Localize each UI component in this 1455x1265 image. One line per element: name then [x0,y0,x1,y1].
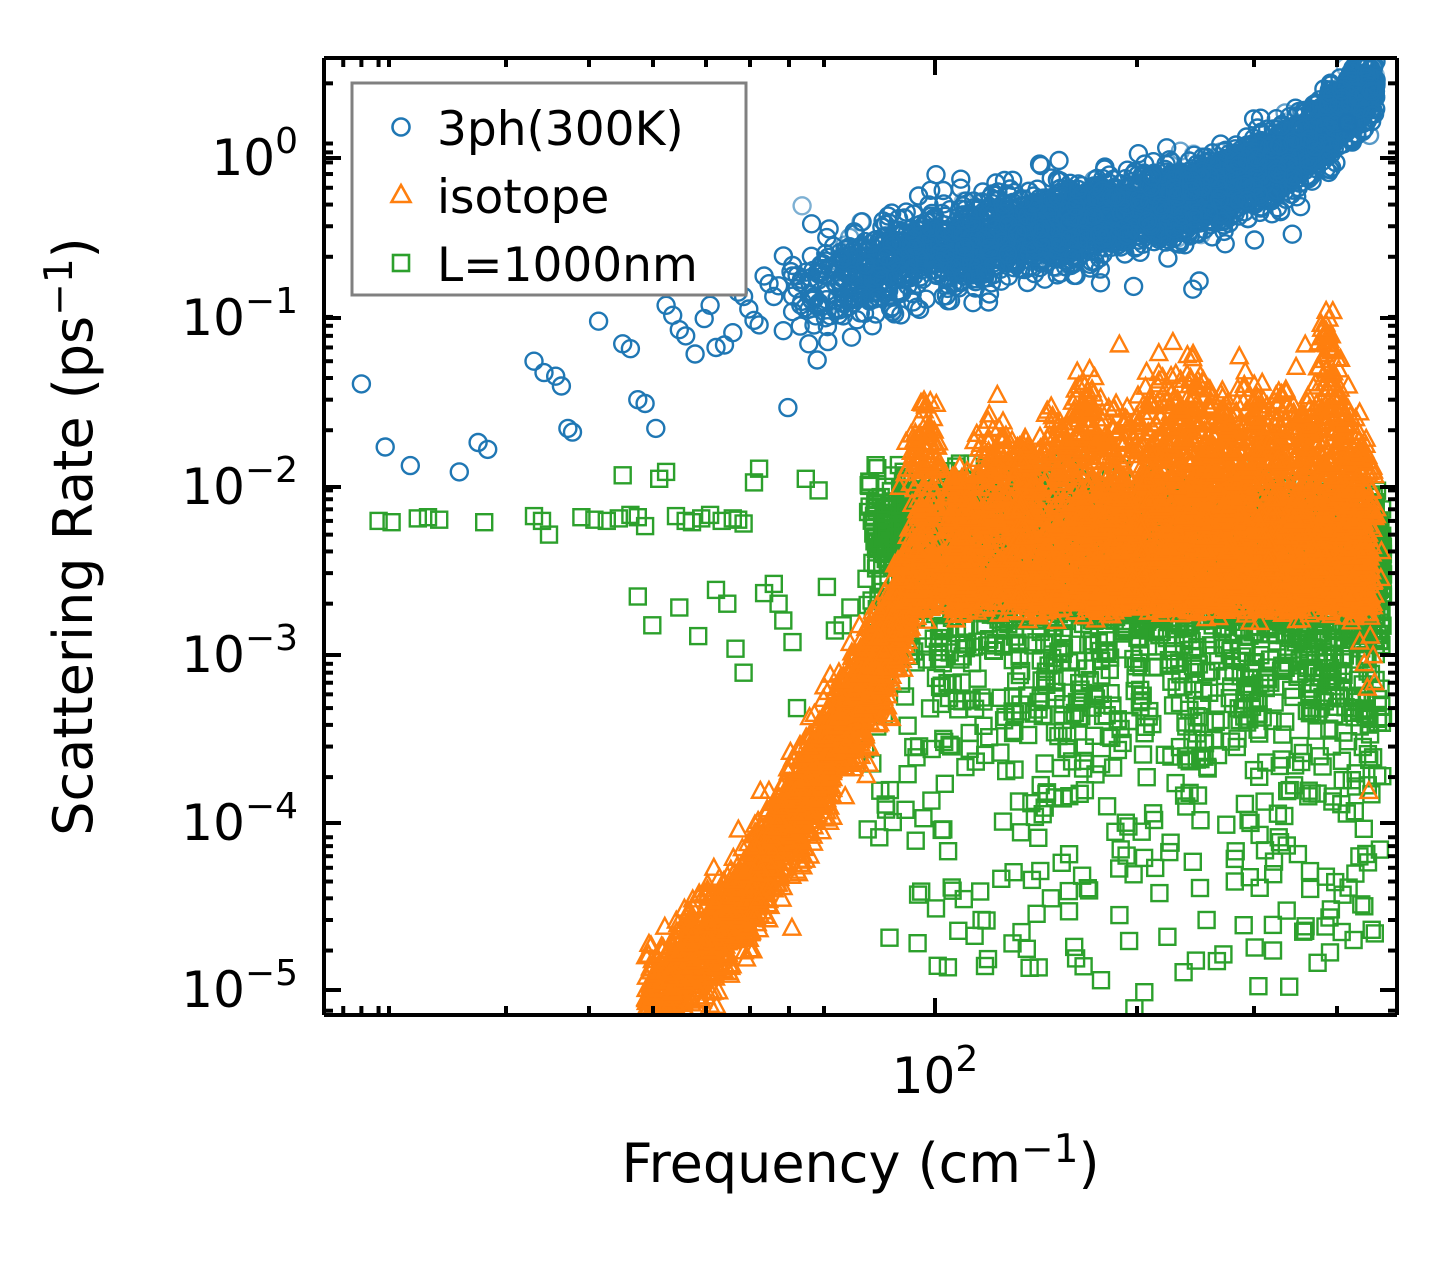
data-point-circle [526,353,543,370]
data-point-square [882,930,898,946]
data-point-circle [779,399,796,416]
data-point-square [970,671,986,687]
data-point-circle [794,197,811,214]
data-point-circle [553,378,570,395]
data-point-square [979,913,995,929]
data-point-square [972,884,988,900]
data-point-circle [1246,232,1263,249]
data-point-square [1302,863,1318,879]
data-point-circle [377,439,394,456]
data-point-circle [564,424,581,441]
data-point-square [736,516,752,532]
data-point-circle [559,420,576,437]
data-point-square [993,871,1009,887]
data-point-square [842,600,858,616]
data-point-circle [547,368,564,385]
data-point-square [644,617,660,633]
data-point-square [910,935,926,951]
data-point-square [671,600,687,616]
data-point-circle [751,316,768,333]
data-point-square [1237,796,1253,812]
data-point-circle [1159,250,1176,267]
data-point-circle [809,352,826,369]
data-point-circle [1051,152,1068,169]
data-point-square [1135,747,1151,763]
plot-canvas: 10010−110−210−310−410−5102Frequency (cm−… [0,0,1455,1265]
data-point-circle [843,329,860,346]
data-point-square [410,510,426,526]
data-point-circle [647,420,664,437]
data-point-circle [775,322,792,339]
data-point-circle [536,364,553,381]
data-point-circle [775,247,792,264]
data-point-square [668,508,684,524]
data-point-square [690,628,706,644]
data-point-square [789,700,805,716]
data-point-circle [800,335,817,352]
data-point-square [937,776,953,792]
data-point-square [630,589,646,605]
data-point-square [775,613,791,629]
data-point-square [1356,821,1372,837]
data-point-circle [1292,198,1309,215]
data-point-square [736,665,752,681]
data-point-circle [451,463,468,480]
data-point-square [900,766,916,782]
data-point-square [785,634,801,650]
data-point-circle [402,457,419,474]
data-point-circle [1284,226,1301,243]
data-point-square [615,467,631,483]
data-point-circle [590,313,607,330]
data-point-square [1121,933,1137,949]
data-point-circle [1125,278,1142,295]
data-point-square [1302,881,1318,897]
data-point-circle [803,215,820,232]
scatter-plot-figure: 10010−110−210−310−410−5102Frequency (cm−… [0,0,1455,1265]
data-point-circle [928,166,945,183]
data-point-circle [353,375,370,392]
data-point-circle [724,324,741,341]
data-point-square [728,641,744,657]
data-point-square [819,579,835,595]
data-point-circle [687,346,704,363]
data-point-square [476,514,492,530]
